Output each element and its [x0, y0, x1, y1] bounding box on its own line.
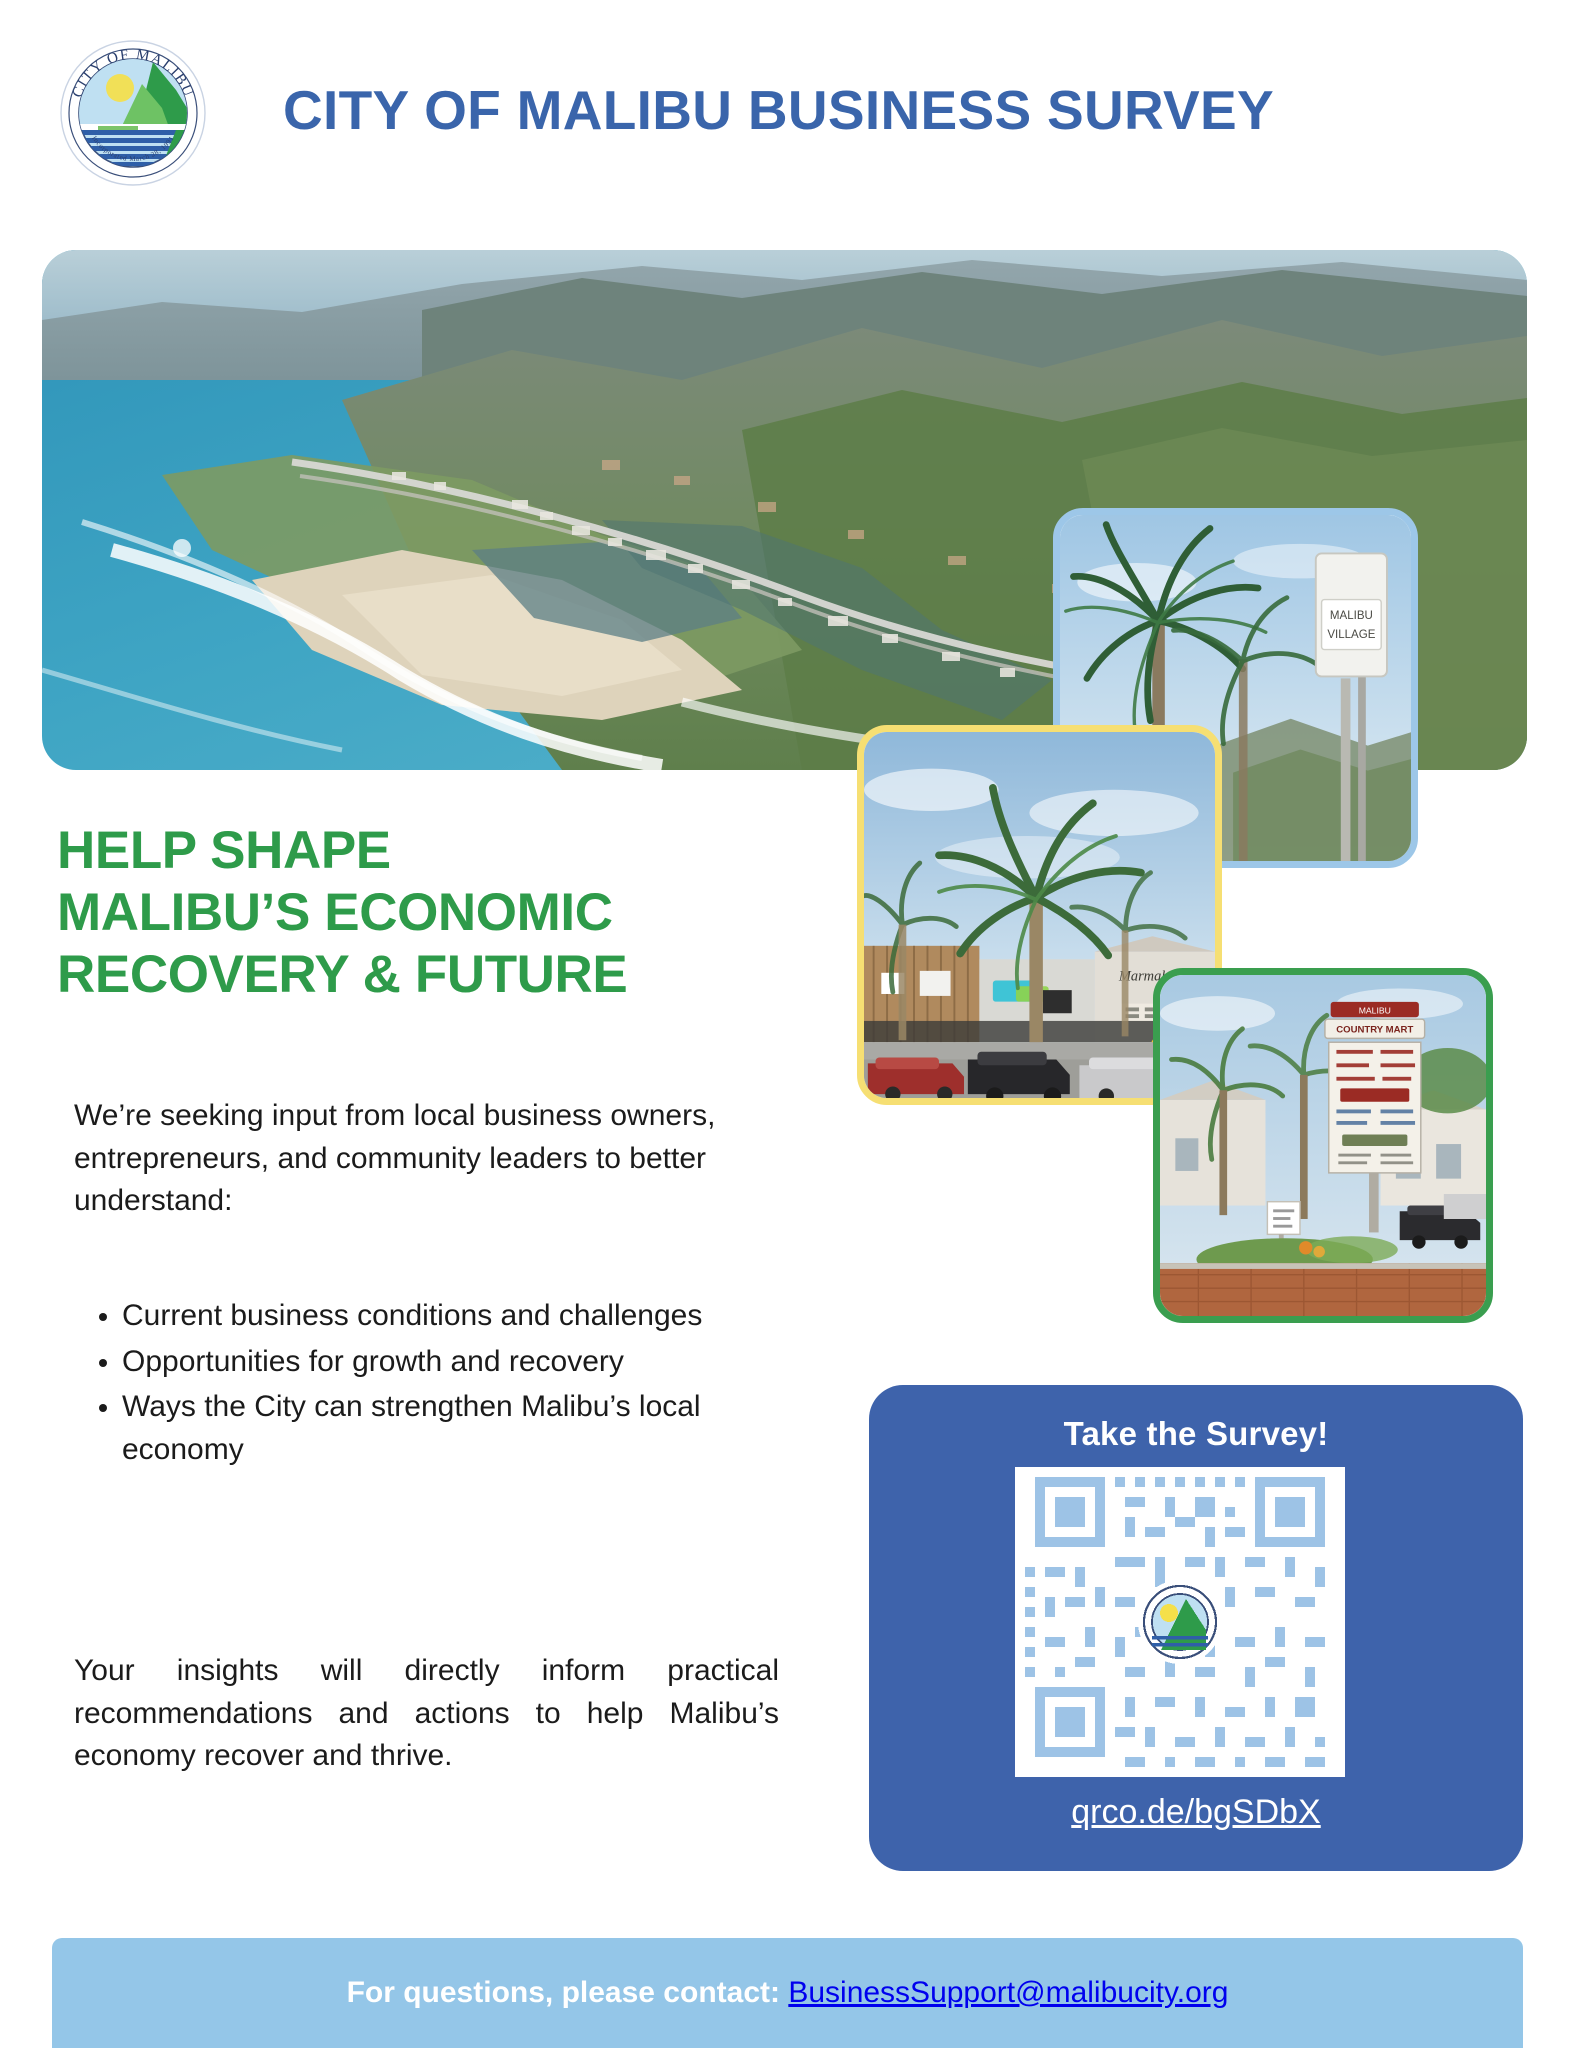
contact-label: For questions, please contact:	[347, 1976, 780, 2009]
list-item: Opportunities for growth and recovery	[122, 1341, 774, 1384]
svg-text:MALIBU: MALIBU	[1359, 1005, 1391, 1015]
survey-qr-code[interactable]	[1015, 1467, 1345, 1777]
headline: HELP SHAPE MALIBU’S ECONOMIC RECOVERY & …	[57, 820, 847, 1006]
benefits-list: Current business conditions and challeng…	[74, 1295, 774, 1474]
headline-line-3: RECOVERY & FUTURE	[57, 944, 847, 1006]
headline-line-1: HELP SHAPE	[57, 820, 847, 882]
closing-paragraph: Your insights will directly inform pract…	[74, 1650, 779, 1778]
contact-email-link[interactable]: BusinessSupport@malibucity.org	[788, 1976, 1228, 2009]
svg-text:VILLAGE: VILLAGE	[1327, 629, 1375, 641]
city-of-malibu-seal-icon: CITY OF MALIBU Incorporated March 28, 19…	[58, 38, 208, 188]
list-item: Current business conditions and challeng…	[122, 1295, 774, 1338]
survey-link[interactable]: qrco.de/bgSDbX	[869, 1793, 1523, 1832]
intro-paragraph: We’re seeking input from local business …	[74, 1095, 789, 1223]
take-survey-card: Take the Survey!	[869, 1385, 1523, 1871]
contact-text: For questions, please contact: BusinessS…	[347, 1976, 1229, 2010]
photo-card-malibu-country-mart: MALIBU COUNTRY MART	[1153, 968, 1493, 1323]
svg-text:COUNTRY MART: COUNTRY MART	[1336, 1025, 1413, 1036]
page-header: CITY OF MALIBU Incorporated March 28, 19…	[0, 0, 1583, 200]
list-item: Ways the City can strengthen Malibu’s lo…	[122, 1386, 774, 1471]
headline-line-2: MALIBU’S ECONOMIC	[57, 882, 847, 944]
survey-card-title: Take the Survey!	[869, 1415, 1523, 1453]
page-title: CITY OF MALIBU BUSINESS SURVEY	[283, 78, 1274, 142]
contact-footer-bar: For questions, please contact: BusinessS…	[52, 1938, 1523, 2048]
svg-text:MALIBU: MALIBU	[1330, 610, 1373, 622]
